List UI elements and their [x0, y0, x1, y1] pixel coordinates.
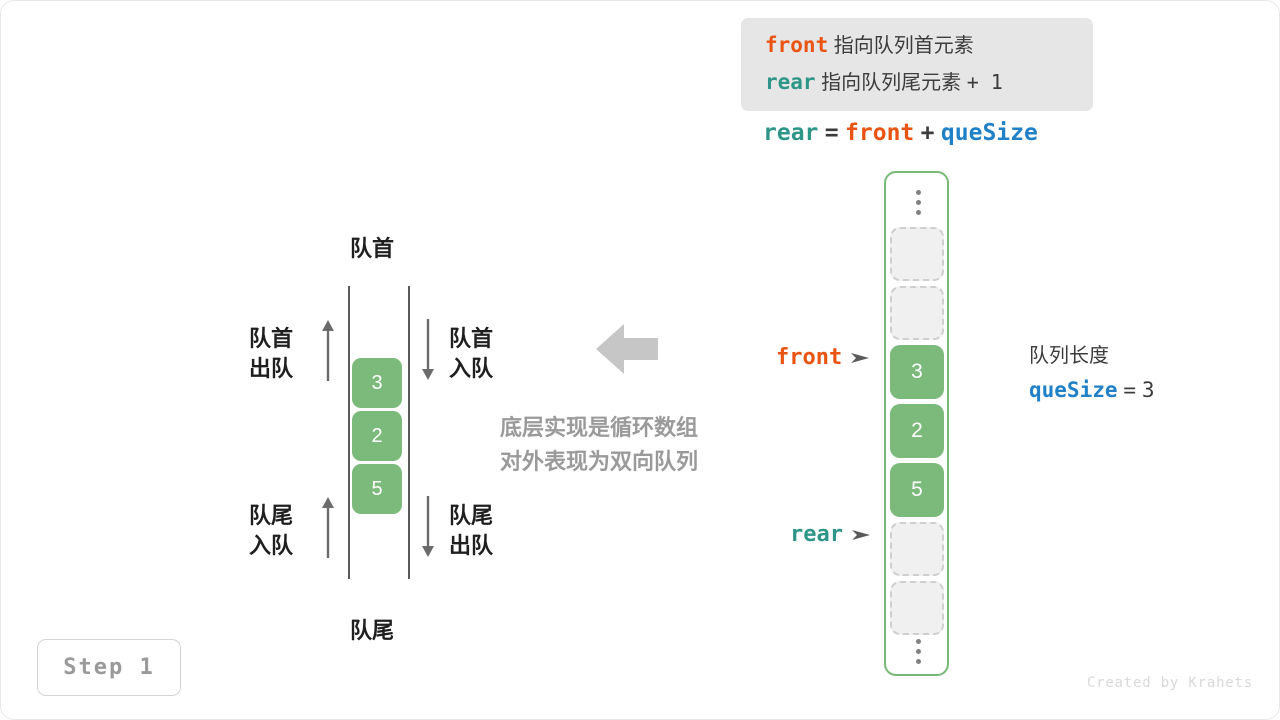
pointer-front-label: front: [776, 345, 842, 370]
deque-head-title: 队首: [350, 231, 394, 263]
arrow-down-head-enqueue: [419, 319, 437, 381]
arrow-down-tail-dequeue: [419, 496, 437, 558]
circular-array-container: 3 2 5: [884, 171, 949, 676]
center-note-line2: 对外表现为双向队列: [500, 445, 698, 479]
array-cell-value: 5: [911, 478, 923, 502]
arrow-right-small-icon: [851, 351, 871, 365]
array-cell-empty: [890, 522, 944, 576]
legend-desc-rear: 指向队列尾元素: [821, 72, 961, 94]
ellipsis-vertical-icon: [886, 628, 951, 674]
arrow-up-head-dequeue: [319, 319, 337, 381]
array-cell-empty: [890, 286, 944, 340]
op-label-tail-enqueue-line2: 入队: [249, 531, 293, 561]
arrow-up-tail-enqueue: [319, 496, 337, 558]
pointer-rear-label: rear: [790, 522, 843, 547]
center-note: 底层实现是循环数组 对外表现为双向队列: [500, 411, 698, 479]
op-label-head-enqueue: 队首 入队: [449, 324, 493, 384]
op-label-head-enqueue-line2: 入队: [449, 354, 493, 384]
deque-cell: 3: [352, 358, 402, 408]
legend-box: front 指向队列首元素 rear 指向队列尾元素 + 1: [741, 18, 1093, 111]
quesize-value: 3: [1142, 378, 1155, 402]
pointer-front: front: [776, 345, 871, 370]
center-note-line1: 底层实现是循环数组: [500, 411, 698, 445]
op-label-tail-dequeue-line1: 队尾: [449, 501, 493, 531]
array-cell-value: 3: [911, 360, 923, 384]
op-label-head-dequeue-line1: 队首: [249, 324, 293, 354]
legend-suffix-rear: + 1: [967, 70, 1003, 94]
deque-cell-value: 3: [371, 372, 382, 395]
step-badge-label: Step 1: [63, 655, 154, 680]
deque-rail-left: [348, 286, 350, 579]
deque-cell-value: 2: [371, 425, 382, 448]
array-cell-filled: 5: [890, 463, 944, 517]
formula-rhs-quesize: queSize: [941, 120, 1038, 146]
deque-tail-title: 队尾: [350, 613, 394, 645]
array-cell-value: 2: [911, 419, 923, 443]
legend-keyword-front: front: [765, 33, 828, 57]
op-label-tail-dequeue: 队尾 出队: [449, 501, 493, 561]
ellipsis-vertical-icon: [886, 179, 951, 225]
op-label-head-dequeue-line2: 出队: [249, 354, 293, 384]
formula-rhs-front: front: [845, 120, 914, 146]
formula-plus: +: [921, 120, 935, 146]
legend-row-rear: rear 指向队列尾元素 + 1: [765, 64, 1093, 101]
op-label-tail-enqueue: 队尾 入队: [249, 501, 293, 561]
credit-text: Created by Krahets: [1087, 675, 1253, 691]
quesize-note-title: 队列长度: [1029, 339, 1155, 368]
formula-rear-equals: rear = front + queSize: [763, 119, 1038, 146]
arrow-left-big-icon: [596, 321, 658, 377]
deque-cell: 5: [352, 464, 402, 514]
array-cell-filled: 3: [890, 345, 944, 399]
quesize-note-value-row: queSize = 3: [1029, 378, 1155, 403]
formula-lhs: rear: [763, 120, 818, 146]
quesize-var: queSize: [1029, 378, 1118, 402]
step-badge: Step 1: [37, 639, 181, 696]
legend-keyword-rear: rear: [765, 70, 816, 94]
arrow-right-small-icon: [852, 528, 872, 542]
array-cell-empty: [890, 227, 944, 281]
formula-equals: =: [825, 120, 839, 146]
quesize-equals: =: [1123, 378, 1136, 402]
op-label-tail-enqueue-line1: 队尾: [249, 501, 293, 531]
deque-cell: 2: [352, 411, 402, 461]
quesize-note: 队列长度 queSize = 3: [1029, 339, 1155, 403]
pointer-rear: rear: [790, 522, 872, 547]
array-cell-filled: 2: [890, 404, 944, 458]
array-cell-empty: [890, 581, 944, 635]
deque-rail-right: [408, 286, 410, 579]
op-label-tail-dequeue-line2: 出队: [449, 531, 493, 561]
diagram-canvas: front 指向队列首元素 rear 指向队列尾元素 + 1 rear = fr…: [0, 0, 1280, 720]
op-label-head-dequeue: 队首 出队: [249, 324, 293, 384]
op-label-head-enqueue-line1: 队首: [449, 324, 493, 354]
legend-desc-front: 指向队列首元素: [834, 35, 974, 57]
deque-cell-value: 5: [371, 478, 382, 501]
legend-row-front: front 指向队列首元素: [765, 27, 1093, 64]
